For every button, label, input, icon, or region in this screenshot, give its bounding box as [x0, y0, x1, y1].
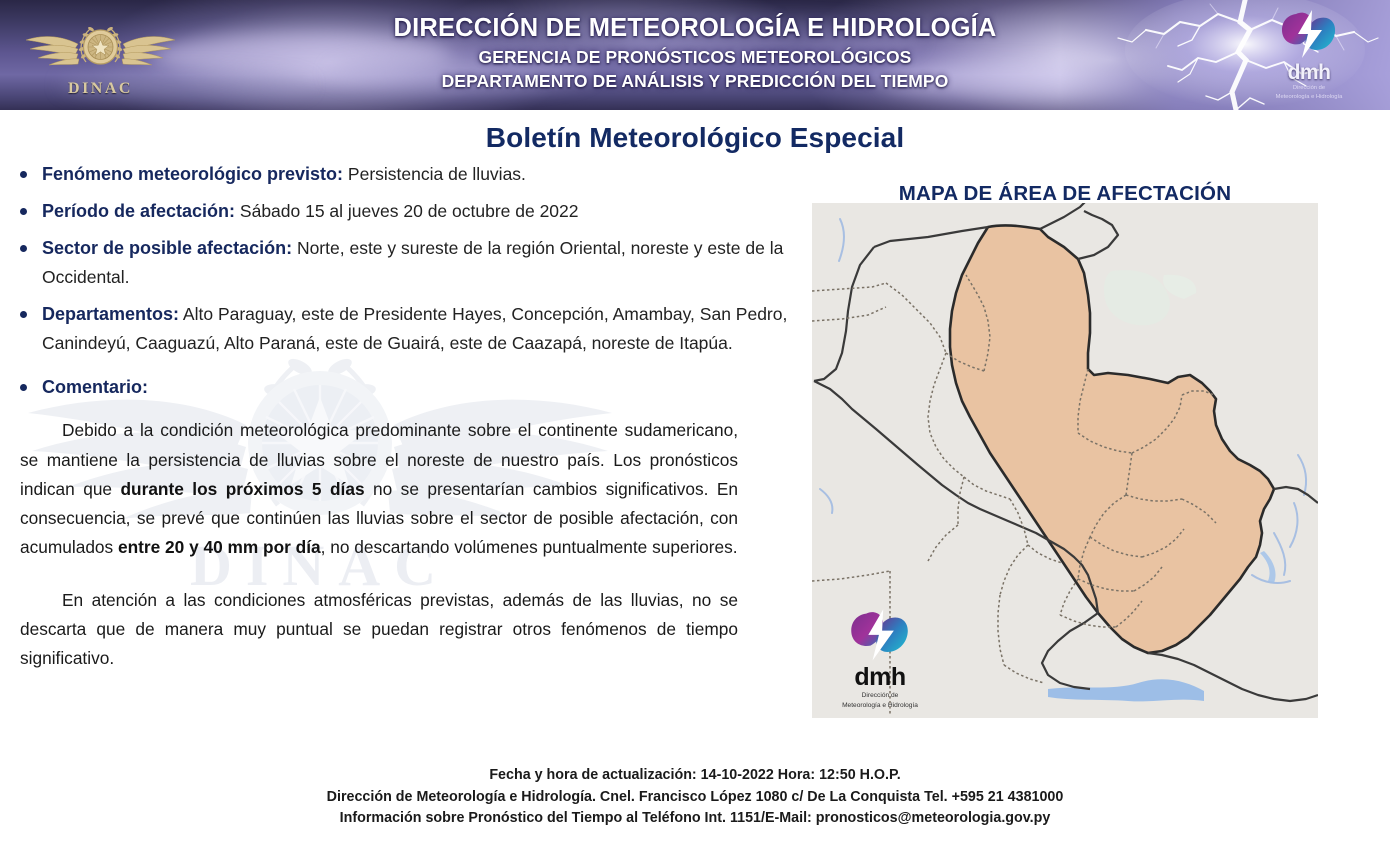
list-item: Fenómeno meteorológico previsto: Persist… — [0, 160, 790, 189]
footer-line-1: Fecha y hora de actualización: 14-10-202… — [0, 765, 1390, 787]
dmh-logo-text: dmh — [1266, 62, 1352, 83]
bulletin-list: Fenómeno meteorológico previsto: Persist… — [0, 160, 790, 402]
dmh-logo-sub2: Meteorología e Hidrología — [834, 702, 926, 710]
list-item: Departamentos: Alto Paraguay, este de Pr… — [0, 300, 790, 358]
dmh-logo-header: dmh Dirección de Meteorología e Hidrolog… — [1266, 8, 1352, 100]
comentario-paragraph-1: Debido a la condición meteorológica pred… — [20, 416, 738, 561]
bulletin-page: DINAC — [0, 0, 1390, 844]
dmh-cloud-bolt-icon — [1278, 8, 1340, 62]
bullet-label: Fenómeno meteorológico previsto: — [42, 164, 343, 184]
dinac-logo: DINAC — [18, 16, 183, 98]
list-item: Sector de posible afectación: Norte, est… — [0, 234, 790, 292]
footer-line-2: Dirección de Meteorología e Hidrología. … — [0, 787, 1390, 809]
dinac-emblem-icon — [18, 16, 183, 82]
dmh-logo-sub1: Dirección de — [1266, 85, 1352, 92]
para1-part3: , no descartando volúmenes puntualmente … — [321, 537, 738, 557]
org-title-line1: DIRECCIÓN DE METEOROLOGÍA E HIDROLOGÍA — [0, 14, 1390, 43]
list-item: Período de afectación: Sábado 15 al juev… — [0, 197, 790, 226]
bullet-label: Departamentos: — [42, 304, 179, 324]
bullet-value: Sábado 15 al jueves 20 de octubre de 202… — [235, 201, 578, 221]
dmh-logo-sub2: Meteorología e Hidrología — [1266, 94, 1352, 101]
affectation-map[interactable]: dmh Dirección de Meteorología e Hidrolog… — [812, 203, 1318, 718]
org-title-line3: DEPARTAMENTO DE ANÁLISIS Y PREDICCIÓN DE… — [0, 70, 1390, 94]
bullet-label: Período de afectación: — [42, 201, 235, 221]
page-title: Boletín Meteorológico Especial — [0, 122, 1390, 154]
para1-bold1: durante los próximos 5 días — [120, 479, 364, 499]
footer: Fecha y hora de actualización: 14-10-202… — [0, 765, 1390, 830]
footer-line-3: Información sobre Pronóstico del Tiempo … — [0, 808, 1390, 830]
dmh-logo-sub1: Dirección de — [834, 692, 926, 700]
dmh-cloud-bolt-icon — [847, 607, 913, 665]
dinac-logo-text: DINAC — [18, 80, 183, 98]
bullet-label: Sector de posible afectación: — [42, 238, 292, 258]
bullet-value: Persistencia de lluvias. — [343, 164, 526, 184]
comentario-label: Comentario: — [42, 377, 148, 397]
comentario-paragraph-2: En atención a las condiciones atmosféric… — [20, 586, 738, 673]
org-title-line2: GERENCIA DE PRONÓSTICOS METEOROLÓGICOS — [0, 46, 1390, 70]
header-banner: DINAC — [0, 0, 1390, 110]
para1-bold2: entre 20 y 40 mm por día — [118, 537, 321, 557]
bulletin-content: Fenómeno meteorológico previsto: Persist… — [0, 160, 790, 673]
header-titles: DIRECCIÓN DE METEOROLOGÍA E HIDROLOGÍA G… — [0, 14, 1390, 94]
dmh-logo-text: dmh — [834, 665, 926, 690]
dmh-logo-map: dmh Dirección de Meteorología e Hidrolog… — [834, 607, 926, 702]
list-item-comentario: Comentario: — [0, 373, 790, 402]
